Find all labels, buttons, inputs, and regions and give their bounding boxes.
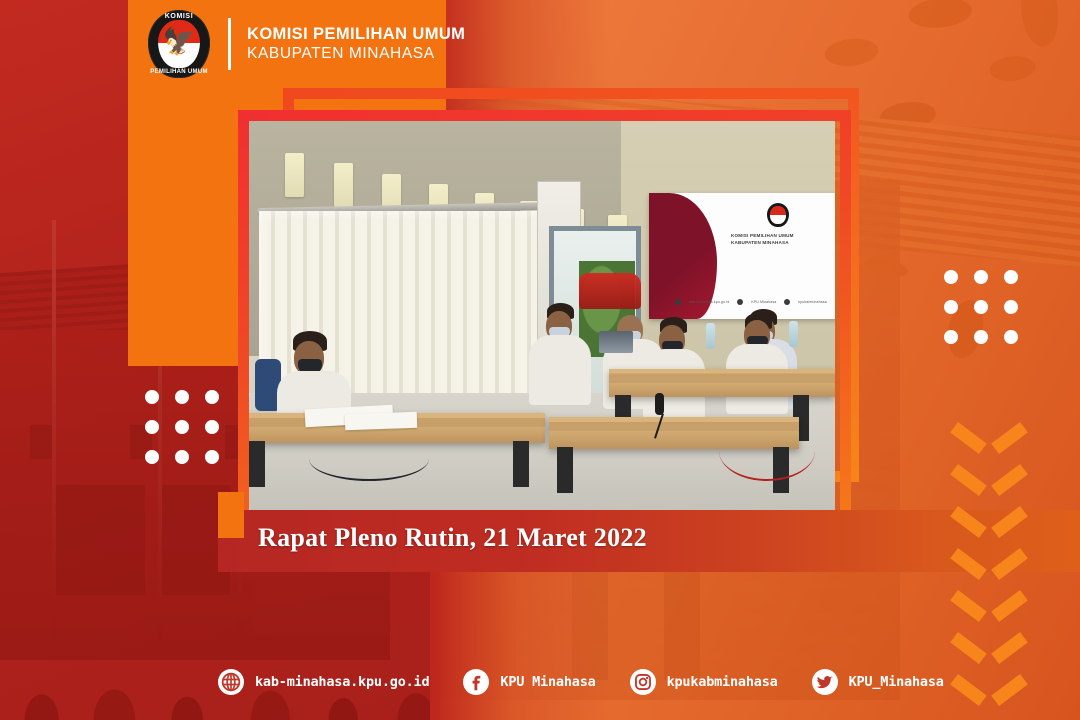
dot-grid-right [944, 270, 1018, 344]
facebook-icon [463, 669, 489, 695]
logo-ring-top-text: KOMISI [148, 13, 210, 20]
page-title: Rapat Pleno Rutin, 21 Maret 2022 [258, 523, 647, 553]
photo-banner-social: KPU Minahasa [751, 300, 776, 304]
garuda-icon: 🦅 [163, 28, 195, 54]
chevron-up-icon [958, 506, 1020, 548]
globe-icon [218, 669, 244, 695]
instagram-icon [630, 669, 656, 695]
dot-grid-left [145, 390, 219, 464]
photo-banner-line1: KOMISI PEMILIHAN UMUM [731, 233, 831, 240]
chevron-up-icon [958, 464, 1020, 506]
poster-canvas: M 🦅 KOMISI PEMILIHAN UMUM KOMISI PEMILIH… [0, 0, 1080, 720]
footer-instagram-label: kpukabminahasa [667, 674, 778, 690]
background-window [55, 485, 145, 595]
title-ribbon-notch [218, 492, 244, 538]
kpu-logo-icon: 🦅 KOMISI PEMILIHAN UMUM [148, 10, 210, 78]
background-window [30, 425, 52, 459]
footer-instagram[interactable]: kpukabminahasa [630, 669, 778, 695]
background-flagpole [52, 220, 56, 640]
header-bar: 🦅 KOMISI PEMILIHAN UMUM KOMISI PEMILIHAN… [128, 0, 748, 88]
logo-ring-bottom-text: PEMILIHAN UMUM [148, 69, 210, 75]
event-photo: KOMISI PEMILIHAN UMUM KABUPATEN MINAHASA… [249, 121, 835, 511]
footer-facebook[interactable]: KPU Minahasa [463, 669, 595, 695]
header-divider [228, 18, 231, 70]
footer-social-bar: kab-minahasa.kpu.go.id KPU Minahasa kpuk… [0, 644, 1080, 720]
footer-website-label: kab-minahasa.kpu.go.id [255, 674, 429, 690]
footer-twitter-label: KPU_Minahasa [849, 674, 944, 690]
chevron-up-icon [958, 590, 1020, 632]
footer-facebook-label: KPU Minahasa [500, 674, 595, 690]
header-line2: KABUPATEN MINAHASA [247, 45, 465, 64]
chevron-up-icon [958, 422, 1020, 464]
photo-banner-social: kpukabminahasa [798, 300, 826, 304]
footer-website[interactable]: kab-minahasa.kpu.go.id [218, 669, 429, 695]
photo-banner-line2: KABUPATEN MINAHASA [731, 240, 831, 247]
footer-twitter[interactable]: KPU_Minahasa [812, 669, 944, 695]
header-line1: KOMISI PEMILIHAN UMUM [247, 24, 465, 44]
twitter-icon [812, 669, 838, 695]
photo-kpu-banner: KOMISI PEMILIHAN UMUM KABUPATEN MINAHASA… [649, 193, 835, 319]
header-title-block: KOMISI PEMILIHAN UMUM KABUPATEN MINAHASA [247, 24, 465, 63]
photo-banner-social: kab-minahasa.kpu.go.id [689, 300, 729, 304]
chevron-up-icon [958, 548, 1020, 590]
